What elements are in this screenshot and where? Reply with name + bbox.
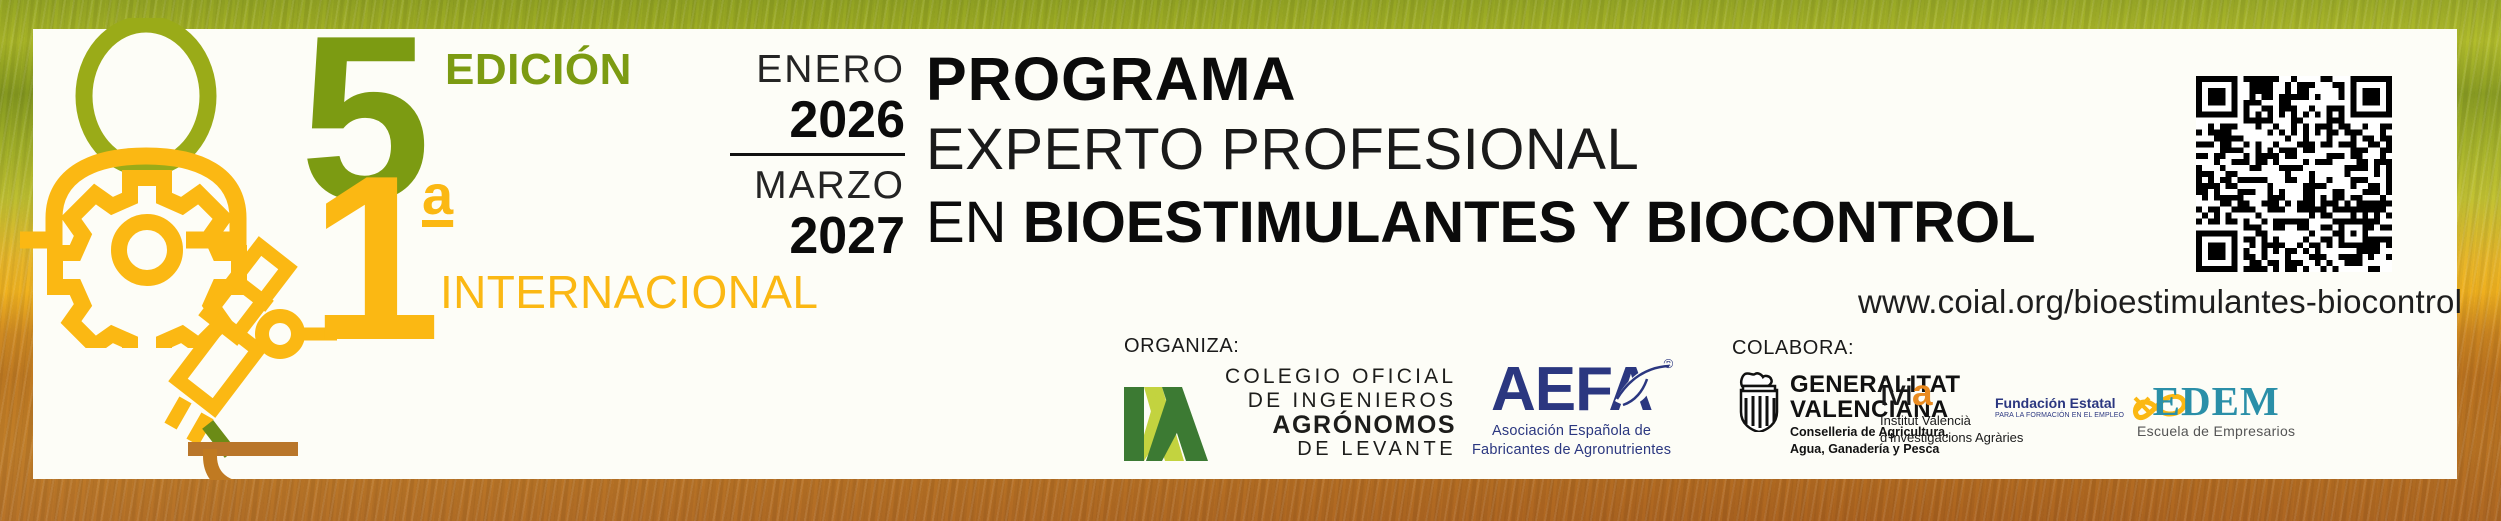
title-prefix-en: EN xyxy=(926,190,1023,255)
ivia-sub-2: d'Investigacions Agràries xyxy=(1880,430,2023,445)
title-line-programa: PROGRAMA xyxy=(926,44,2036,114)
international-label: INTERNACIONAL xyxy=(440,265,818,319)
start-year: 2026 xyxy=(730,92,905,148)
edem-subtitle: Escuela de Empresarios xyxy=(2137,423,2295,439)
website-url[interactable]: www.coial.org/bioestimulantes-biocontrol xyxy=(1858,283,2462,321)
fundacion-line-2: PARA LA FORMACIÓN EN EL EMPLEO xyxy=(1995,411,2124,420)
fundacion-estatal-wordmark: Fundación Estatal PARA LA FORMACIÓN EN E… xyxy=(1995,395,2124,420)
aefa-wordmark: AEFA ® xyxy=(1472,359,1671,421)
coial-wordmark: COLEGIO OFICIAL DE INGENIEROS AGRÓNOMOS … xyxy=(1225,365,1456,461)
edem-wordmark: EDEM xyxy=(2137,380,2295,422)
programme-title-block: PROGRAMA EXPERTO PROFESIONAL EN BIOESTIM… xyxy=(926,44,2036,260)
coial-mark-icon xyxy=(1124,365,1208,461)
coial-line-3: AGRÓNOMOS xyxy=(1225,413,1456,437)
aefa-subtitle-2: Fabricantes de Agronutrientes xyxy=(1472,442,1671,459)
title-line-bioestimulantes: EN BIOESTIMULANTES Y BIOCONTROL xyxy=(926,186,2036,260)
title-line-experto-profesional: EXPERTO PROFESIONAL xyxy=(926,114,2036,186)
decorative-icon-cluster xyxy=(0,0,340,521)
aefa-bird-icon xyxy=(1613,361,1675,411)
ivia-word-ivi: ivi xyxy=(1880,372,1912,413)
end-month: MARZO xyxy=(730,164,905,208)
start-month: ENERO xyxy=(730,48,905,92)
colabora-label: COLABORA: xyxy=(1732,337,1854,360)
generalitat-shield-icon xyxy=(1737,372,1781,432)
international-number: 1 xyxy=(310,140,435,375)
coial-line-4: DE LEVANTE xyxy=(1225,437,1456,461)
event-banner: 5 EDICIÓN 1 a INTERNACIONAL ENERO 2026 M… xyxy=(0,0,2501,521)
end-year: 2027 xyxy=(730,208,905,264)
title-main-subject: BIOESTIMULANTES Y BIOCONTROL xyxy=(1023,190,2036,255)
coial-line-2: DE INGENIEROS xyxy=(1225,389,1456,413)
aefa-subtitle-1: Asociación Española de xyxy=(1472,423,1671,440)
date-divider xyxy=(730,153,905,156)
edition-label: EDICIÓN xyxy=(445,45,632,95)
ivia-word-a: a xyxy=(1912,372,1932,413)
edem-logo: EDEM Escuela de Empresarios xyxy=(2137,380,2295,439)
date-range-block: ENERO 2026 MARZO 2027 xyxy=(730,48,905,264)
fundacion-line-1: Fundación Estatal xyxy=(1995,395,2124,411)
qr-code[interactable] xyxy=(2196,76,2392,272)
international-ordinal: a xyxy=(422,162,453,227)
coial-logo: COLEGIO OFICIAL DE INGENIEROS AGRÓNOMOS … xyxy=(1124,365,1456,461)
organiza-label: ORGANIZA: xyxy=(1124,335,1239,358)
aefa-logo: AEFA ® Asociación Española de Fabricante… xyxy=(1472,359,1671,459)
coial-line-1: COLEGIO OFICIAL xyxy=(1225,365,1456,389)
